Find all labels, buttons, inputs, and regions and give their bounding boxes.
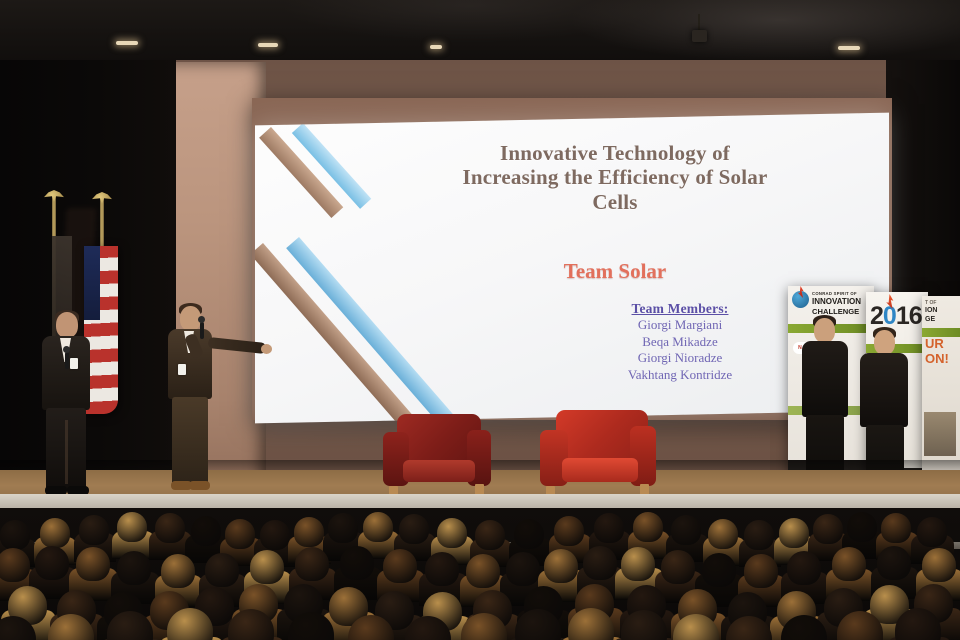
ceiling-light-icon xyxy=(838,46,860,50)
spotlight-icon xyxy=(692,30,707,42)
presenter-gesturing xyxy=(160,306,272,502)
audience-member-head xyxy=(117,551,151,585)
audience-member-head xyxy=(0,520,30,550)
team-member: Vakhtang Kontridze xyxy=(555,367,805,384)
audience-member-head xyxy=(544,549,578,583)
audience-member-head xyxy=(294,517,324,547)
shoe xyxy=(189,481,210,490)
microphone-icon xyxy=(200,322,204,339)
us-flag-canton xyxy=(84,246,100,320)
audience-member-head xyxy=(787,551,821,585)
head xyxy=(814,318,835,343)
audience-member-head xyxy=(383,549,417,583)
audience-member-head xyxy=(708,519,738,549)
audience-member-head xyxy=(594,513,624,543)
pointing-arm xyxy=(208,337,267,354)
audience-member-head xyxy=(744,554,778,588)
audience-member-head xyxy=(633,512,663,542)
pointing-hand xyxy=(261,344,272,354)
ceiling-light-icon xyxy=(116,41,138,45)
audience-member-head xyxy=(475,520,505,550)
edge-banner-line-3: GE xyxy=(925,316,935,323)
audience-member-head xyxy=(295,547,329,581)
banner-photo xyxy=(924,412,956,456)
edge-banner-line-1: T OF xyxy=(925,300,936,306)
audience-member-head xyxy=(702,553,736,587)
chair-seat xyxy=(562,458,638,482)
audience-member-head xyxy=(340,546,374,580)
team-member: Giorgi Nioradze xyxy=(555,350,805,367)
ceiling-light-icon xyxy=(430,45,442,49)
audience xyxy=(0,508,960,640)
audience-member-head xyxy=(583,546,617,580)
head xyxy=(874,330,895,355)
audience-member-head xyxy=(363,512,393,542)
audience-member-head xyxy=(399,514,429,544)
audience-member-head xyxy=(260,520,290,550)
audience-member-head xyxy=(76,547,110,581)
name-badge xyxy=(178,364,186,375)
audience-member-head xyxy=(847,512,877,542)
microphone-icon xyxy=(65,352,69,369)
audience-member-head xyxy=(225,519,255,549)
audience-member-head xyxy=(437,518,467,548)
torso xyxy=(802,341,848,417)
microphone-head-icon xyxy=(63,346,70,353)
audience-member-head xyxy=(250,550,284,584)
red-armchair-left xyxy=(383,414,491,502)
edge-banner-line-2: ION xyxy=(925,307,937,314)
audience-member-head xyxy=(35,546,69,580)
audience-member-head xyxy=(671,515,701,545)
microphone-head-icon xyxy=(198,316,205,323)
audience-member-head xyxy=(661,550,695,584)
name-badge xyxy=(70,358,78,369)
audience-member-head xyxy=(328,513,358,543)
chevron-brown-lower xyxy=(255,243,426,423)
slide-title: Innovative Technology of Increasing the … xyxy=(405,141,825,214)
audience-member-head xyxy=(813,514,843,544)
audience-member-head xyxy=(917,517,947,547)
ceiling-light-icon xyxy=(258,43,278,47)
audience-member-head xyxy=(425,552,459,586)
audience-member-head xyxy=(779,518,809,548)
slide-team-members: Team Members: Giorgi Margiani Beqa Mikad… xyxy=(555,301,805,384)
team-members-heading: Team Members: xyxy=(555,301,805,317)
presenter-with-microphone xyxy=(34,312,104,502)
audience-member-head xyxy=(0,548,30,582)
audience-member-head xyxy=(506,552,540,586)
audience-member-head xyxy=(117,512,147,542)
trousers xyxy=(172,397,208,485)
audience-member-head xyxy=(744,520,774,550)
audience-member-head xyxy=(79,515,109,545)
banner-line-1: CONRAD SPIRIT OF xyxy=(812,291,857,296)
audience-member-head xyxy=(832,547,866,581)
audience-member-head xyxy=(621,547,655,581)
team-member: Giorgi Margiani xyxy=(555,317,805,334)
slide-team-name: Team Solar xyxy=(435,259,795,284)
audience-member-head xyxy=(466,554,500,588)
banner-line-2: INNOVATION xyxy=(812,297,861,306)
audience-member-head xyxy=(881,513,911,543)
audience-member-head xyxy=(191,516,221,546)
audience-member-head xyxy=(40,518,70,548)
edge-banner-line-5: ON! xyxy=(925,351,949,366)
audience-member-head xyxy=(155,513,185,543)
team-member: Beqa Mikadze xyxy=(555,334,805,351)
torso xyxy=(860,353,908,427)
slide-title-line-2: Increasing the Efficiency of Solar xyxy=(405,165,825,189)
audience-member-head xyxy=(161,554,195,588)
banner-year: 2016 xyxy=(870,302,922,331)
edge-banner-line-4: UR xyxy=(925,336,944,351)
slide-title-line-3: Cells xyxy=(405,190,825,214)
audience-member-head xyxy=(205,553,239,587)
red-armchair-right xyxy=(540,410,656,502)
auditorium-photo: Innovative Technology of Increasing the … xyxy=(0,0,960,640)
leg-separation xyxy=(65,420,68,484)
audience-member-head xyxy=(922,548,956,582)
audience-member-head xyxy=(877,546,911,580)
edge-banner: T OF ION GE UR ON! xyxy=(922,296,960,486)
chair-seat xyxy=(403,460,475,482)
head xyxy=(56,312,78,338)
audience-member-head xyxy=(514,519,544,549)
slide-title-line-1: Innovative Technology of xyxy=(405,141,825,165)
audience-member-head xyxy=(554,516,584,546)
